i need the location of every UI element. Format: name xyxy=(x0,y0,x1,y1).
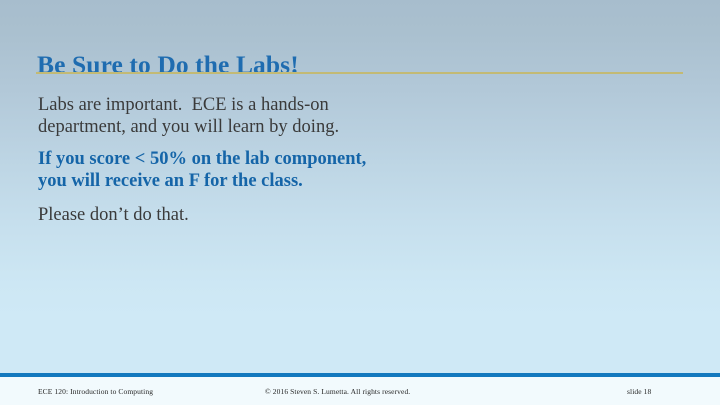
footer-slide-number: slide 18 xyxy=(627,387,651,396)
slide-title: Be Sure to Do the Labs! xyxy=(37,51,299,79)
presentation-slide: Be Sure to Do the Labs! Labs are importa… xyxy=(0,0,720,405)
body-paragraph-intro: Labs are important. ECE is a hands-on de… xyxy=(38,95,658,138)
footer-copyright: © 2016 Steven S. Lumetta. All rights res… xyxy=(265,387,410,396)
body-paragraph-warning: If you score < 50% on the lab component,… xyxy=(38,149,658,192)
title-underline-rule xyxy=(36,72,683,74)
slide-body: Labs are important. ECE is a hands-on de… xyxy=(38,95,658,227)
body-paragraph-plea: Please don’t do that. xyxy=(38,205,658,227)
footer-course-name: ECE 120: Introduction to Computing xyxy=(38,387,153,396)
slide-footer: ECE 120: Introduction to Computing © 201… xyxy=(0,377,720,405)
